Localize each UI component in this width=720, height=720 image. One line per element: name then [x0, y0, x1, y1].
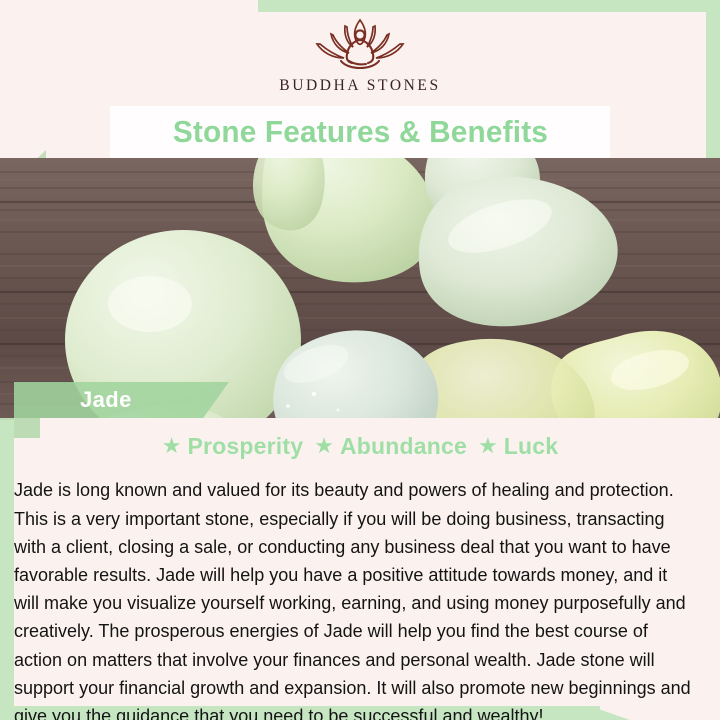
frame-left-lower	[0, 420, 14, 720]
benefit-label: Abundance	[340, 433, 467, 460]
benefits-row: ★ Prosperity ★ Abundance ★ Luck	[0, 430, 720, 462]
infographic-page: BUDDHA STONES	[0, 0, 720, 720]
lotus-meditation-icon	[301, 14, 419, 74]
jade-stones-photo	[0, 158, 720, 418]
benefit-label: Luck	[504, 433, 558, 460]
stone-description: Jade is long known and valued for its be…	[14, 476, 696, 720]
benefit-label: Prosperity	[187, 433, 303, 460]
star-icon: ★	[162, 435, 182, 457]
stone-name-banner: Jade	[14, 382, 229, 418]
benefit-prosperity: ★ Prosperity	[162, 433, 304, 460]
photo-illustration	[0, 158, 720, 418]
frame-top-right	[258, 0, 720, 12]
benefit-luck: ★ Luck	[478, 433, 558, 460]
star-icon: ★	[478, 435, 498, 457]
star-icon: ★	[314, 435, 334, 457]
page-title: Stone Features & Benefits	[172, 114, 547, 150]
brand-logo: BUDDHA STONES	[0, 14, 720, 106]
brand-name: BUDDHA STONES	[279, 77, 440, 95]
stone-name-label: Jade	[80, 387, 132, 413]
title-banner: Stone Features & Benefits	[110, 106, 610, 158]
benefit-abundance: ★ Abundance	[314, 433, 467, 460]
